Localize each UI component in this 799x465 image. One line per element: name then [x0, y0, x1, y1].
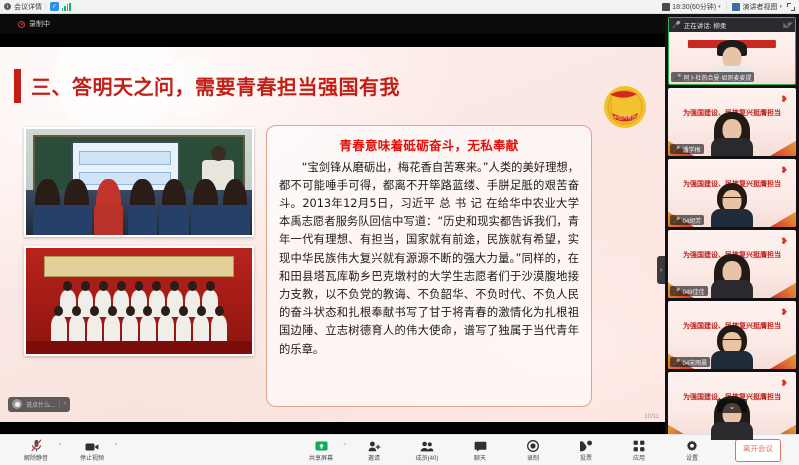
birds-decoration-icon: ❥: [780, 378, 788, 389]
birds-decoration-icon: ❥: [780, 165, 788, 176]
participant-name: 阿卜杜热合曼·如则麦麦提: [683, 73, 751, 82]
chat-label: 聊天: [474, 453, 486, 462]
slide-title-group: 三、答明天之问，需要青春担当强国有我: [14, 69, 400, 103]
participant-name: 049佳佳: [682, 287, 704, 296]
video-tile[interactable]: ❥ 为强国建设、民族复兴挺膺担当 🎤 04宋雨晨: [668, 301, 796, 369]
audio-wave-icon: ◣◤: [783, 21, 792, 29]
unmute-button[interactable]: 解除静音 ^: [16, 439, 56, 462]
expand-icon[interactable]: [787, 3, 795, 11]
birds-decoration-icon: ❥: [780, 94, 788, 105]
timer-icon: [662, 3, 670, 11]
record-dot-icon: [18, 21, 25, 28]
poll-button[interactable]: 投票: [566, 439, 606, 462]
scroll-down-chevron-icon[interactable]: ⌄: [717, 399, 747, 413]
participant-name-badge: 🎤 04胡芳: [670, 215, 704, 225]
meeting-timer-label: 18:30(60分钟): [672, 2, 716, 12]
presentation-slide: 三、答明天之问，需要青春担当强国有我 中国共青团: [0, 47, 665, 422]
chevron-up-icon[interactable]: ^: [59, 443, 61, 449]
slide-chat-input[interactable]: 说点什么...: [26, 400, 55, 409]
participant-name: 04宋雨晨: [682, 358, 707, 367]
record-circle-icon: [527, 439, 539, 452]
meeting-toolbar: 解除静音 ^ 停止视频 ^: [0, 434, 799, 465]
recording-status-bar: 录制中: [0, 14, 665, 34]
leave-meeting-button[interactable]: 离开会议: [735, 439, 781, 462]
record-button[interactable]: 录制: [513, 439, 553, 462]
poll-label: 投票: [580, 453, 592, 462]
share-screen-button[interactable]: 共享屏幕 ^: [301, 439, 341, 462]
view-mode-selector[interactable]: 演讲者视图 ▾: [732, 2, 782, 12]
mic-muted-icon: [31, 439, 42, 452]
apps-label: 应用: [633, 453, 645, 462]
view-mode-label: 演讲者视图: [742, 2, 777, 12]
panel-collapse-handle[interactable]: ›: [657, 256, 665, 284]
chevron-up-icon[interactable]: ^: [115, 443, 117, 449]
birds-decoration-icon: ❥: [780, 236, 788, 247]
settings-label: 设置: [686, 453, 698, 462]
slide-chat-bar[interactable]: 说点什么... ‹: [8, 397, 70, 412]
share-screen-label: 共享屏幕: [309, 453, 333, 462]
video-tile[interactable]: ❥ 为强国建设、民族复兴挺膺担当 🎤 04胡芳: [668, 159, 796, 227]
stop-video-label: 停止视频: [80, 453, 104, 462]
shared-screen-stage[interactable]: 三、答明天之问，需要青春担当强国有我 中国共青团: [0, 34, 665, 434]
mic-muted-icon: 🎤: [674, 74, 681, 81]
chat-button[interactable]: 聊天: [460, 439, 500, 462]
settings-button[interactable]: 设置: [672, 439, 712, 462]
invite-label: 邀请: [368, 453, 380, 462]
slide-text-panel: 青春意味着砥砺奋斗，无私奉献 “宝剑锋从磨砺出，梅花香自苦寒来。”人类的美好理想…: [266, 125, 592, 407]
video-tile[interactable]: ❥ 为强国建设、民族复兴挺膺担当 ⌄: [668, 372, 796, 440]
chat-divider: [59, 400, 60, 409]
participant-name-badge: 🎤 潘学梅: [670, 144, 704, 154]
info-icon[interactable]: i: [4, 3, 11, 10]
chevron-left-icon[interactable]: ‹: [64, 401, 66, 407]
layout-icon: [732, 3, 740, 11]
window-top-bar: i 会议详情 | ✓ 18:30(60分钟) ▾ | 演讲者视图 ▾: [0, 0, 799, 14]
top-bar-divider: |: [45, 3, 47, 10]
gear-icon: [686, 439, 698, 452]
zoom-meeting-window: i 会议详情 | ✓ 18:30(60分钟) ▾ | 演讲者视图 ▾ 录制中: [0, 0, 799, 465]
meeting-detail-label[interactable]: 会议详情: [14, 2, 42, 12]
active-speaker-strip: 🎤 正在讲话: 柳柔 ◣◤: [669, 18, 795, 32]
speaking-mic-icon: 🎤: [672, 21, 681, 29]
participant-name: 04胡芳: [682, 216, 701, 225]
recording-label: 录制中: [29, 19, 50, 29]
birds-decoration-icon: ❥: [780, 307, 788, 318]
participants-button[interactable]: 成员(40): [407, 439, 447, 462]
participants-icon: [420, 439, 434, 452]
svg-text:中国共青团: 中国共青团: [614, 114, 637, 121]
mic-muted-icon: 🎤: [673, 288, 680, 295]
signal-bars-icon[interactable]: [62, 3, 71, 11]
slide-title: 三、答明天之问，需要青春担当强国有我: [31, 71, 400, 100]
share-screen-icon: [315, 439, 328, 452]
mic-muted-icon: 🎤: [673, 217, 680, 224]
title-accent-bar: [14, 69, 21, 103]
invite-person-icon: [368, 439, 381, 452]
invite-button[interactable]: 邀请: [354, 439, 394, 462]
participant-name-badge: 🎤 阿卜杜热合曼·如则麦麦提: [671, 72, 754, 82]
slide-panel-paragraph: “宝剑锋从磨砺出，梅花香自苦寒来。”人类的美好理想，都不可能唾手可得，都离不开筚…: [279, 159, 579, 359]
meeting-timer[interactable]: 18:30(60分钟) ▾: [662, 2, 720, 12]
stop-video-button[interactable]: 停止视频 ^: [72, 439, 112, 462]
participant-video-panel: 🎤 正在讲话: 柳柔 ◣◤ 🎤 阿卜杜热合曼·如则麦麦提 ❥ 为强国建设、民族复…: [665, 14, 799, 434]
video-tile[interactable]: 🎤 正在讲话: 柳柔 ◣◤ 🎤 阿卜杜热合曼·如则麦麦提: [668, 17, 796, 85]
shield-icon[interactable]: ✓: [50, 2, 59, 11]
communist-youth-league-emblem-icon: 中国共青团: [599, 79, 651, 131]
chat-bubble-icon: [474, 439, 487, 452]
participants-label: 成员(40): [416, 453, 439, 462]
slide-panel-heading: 青春意味着砥砺奋斗，无私奉献: [279, 135, 579, 154]
poll-icon: [580, 439, 593, 452]
classroom-photo: [24, 127, 254, 237]
video-tile[interactable]: ❥ 为强国建设、民族复兴挺膺担当 🎤 潘学梅: [668, 88, 796, 156]
user-avatar-icon: [12, 399, 22, 409]
video-camera-icon: [85, 439, 99, 452]
chevron-down-icon: ▾: [779, 4, 782, 10]
video-tile[interactable]: ❥ 为强国建设、民族复兴挺膺担当 🎤 049佳佳: [668, 230, 796, 298]
apps-button[interactable]: 应用: [619, 439, 659, 462]
participant-name-badge: 🎤 049佳佳: [670, 286, 708, 296]
active-speaker-label: 正在讲话: 柳柔: [684, 20, 727, 30]
slide-photo-column: [24, 127, 254, 365]
unmute-label: 解除静音: [24, 453, 48, 462]
page-indicator: 10/11: [644, 414, 659, 420]
mic-muted-icon: 🎤: [673, 146, 680, 153]
mic-muted-icon: 🎤: [673, 359, 680, 366]
slide-panel-body: “宝剑锋从磨砺出，梅花香自苦寒来。”人类的美好理想，都不可能唾手可得，都离不开筚…: [279, 159, 579, 359]
participant-name-badge: 🎤 04宋雨晨: [670, 357, 710, 367]
choir-photo: [24, 246, 254, 356]
chevron-down-icon: ▾: [718, 4, 721, 10]
record-label: 录制: [527, 453, 539, 462]
apps-grid-icon: [633, 439, 645, 452]
participant-name: 潘学梅: [682, 145, 700, 154]
chevron-up-icon[interactable]: ^: [344, 443, 346, 449]
